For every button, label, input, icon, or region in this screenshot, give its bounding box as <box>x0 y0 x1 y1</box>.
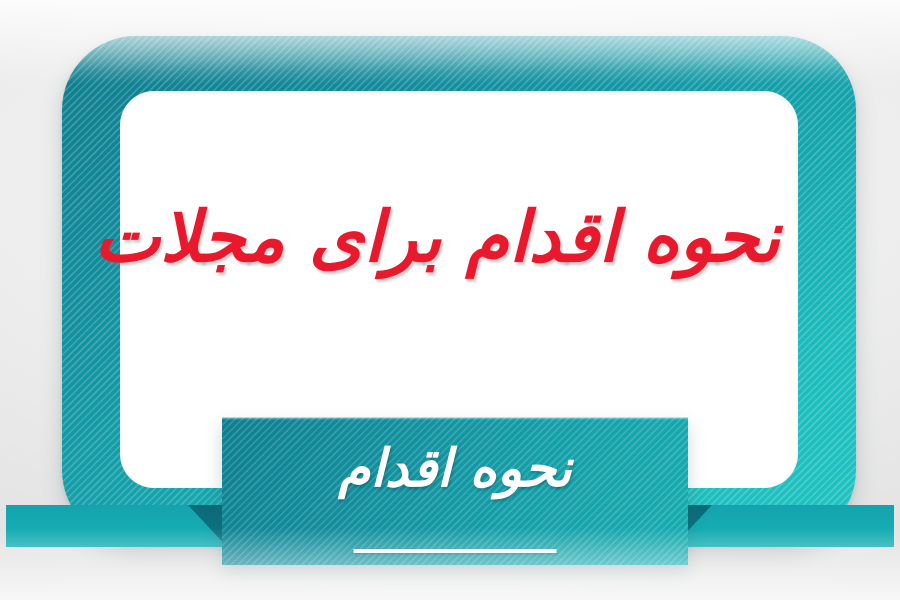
page-title: نحوه اقدام برای مجلات <box>120 196 780 279</box>
ribbon-label: نحوه اقدام <box>222 443 688 495</box>
ribbon-banner: نحوه اقدام <box>0 404 900 582</box>
slide-canvas: نحوه اقدام برای مجلات نحوه اقدام <box>0 0 900 600</box>
ribbon-label-underline <box>354 549 557 553</box>
ribbon-top-highlight <box>222 417 688 420</box>
ribbon-face: نحوه اقدام <box>222 417 688 565</box>
